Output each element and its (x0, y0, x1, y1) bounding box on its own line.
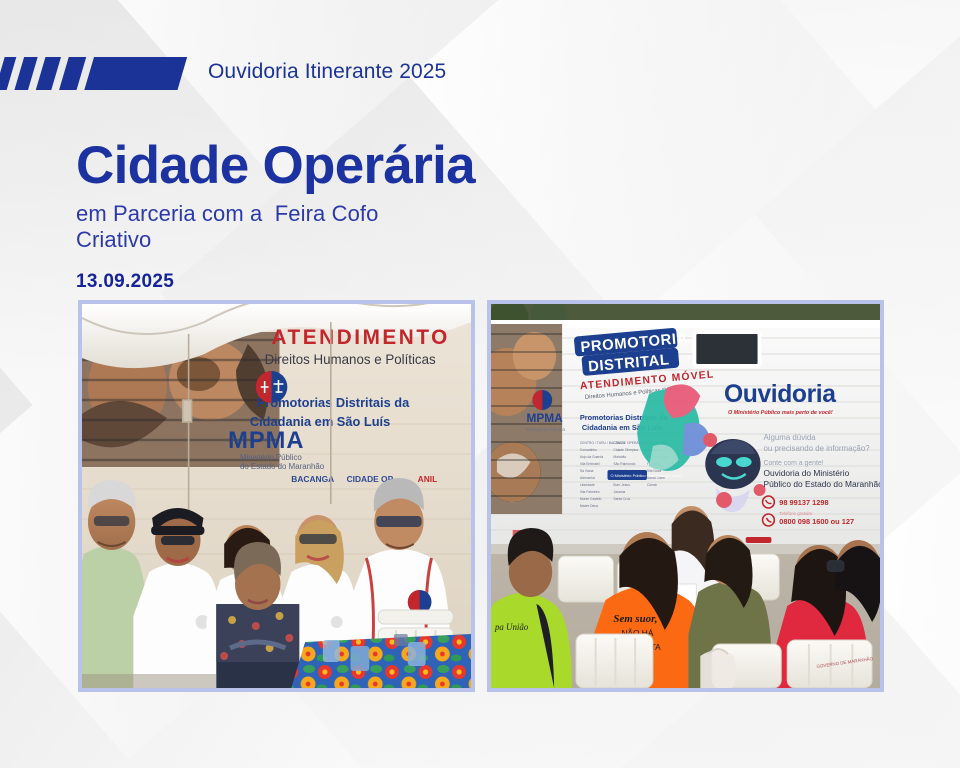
svg-text:Santa Cruz: Santa Cruz (613, 497, 630, 501)
svg-text:Vila Embratel: Vila Embratel (580, 462, 600, 466)
photo-left-frame[interactable]: ATENDIMENTO Direitos Humanos e Políticas… (78, 300, 475, 692)
svg-text:Vila Palmeira: Vila Palmeira (580, 490, 600, 494)
svg-text:ANIL: ANIL (418, 474, 438, 484)
photo-left-image: ATENDIMENTO Direitos Humanos e Políticas… (82, 304, 471, 688)
svg-text:0800 098 1600 ou 127: 0800 098 1600 ou 127 (779, 517, 854, 526)
svg-text:98 99137 1298: 98 99137 1298 (779, 498, 828, 507)
svg-text:Liberdade: Liberdade (580, 483, 595, 487)
plastic-bag (700, 649, 736, 688)
svg-text:São Raimundo: São Raimundo (613, 462, 635, 466)
svg-text:Alemanha: Alemanha (580, 476, 595, 480)
svg-text:Sem suor,: Sem suor, (613, 613, 657, 625)
svg-text:Ministério Público: Ministério Público (240, 453, 302, 462)
svg-text:Telefone gratuito: Telefone gratuito (779, 511, 812, 516)
table-floral (291, 634, 471, 688)
svg-text:Madre Deus: Madre Deus (580, 504, 598, 508)
photo-right-image: MPMA Ministério Público PROMOTORIA DISTR… (491, 304, 880, 688)
svg-text:Ouvidoria: Ouvidoria (724, 381, 836, 408)
svg-text:ou precisando de informação?: ou precisando de informação? (763, 444, 870, 453)
page-subtitle: em Parceria com a Feira Cofo Criativo (76, 201, 446, 253)
svg-text:Anjo da Guarda: Anjo da Guarda (580, 455, 604, 459)
header-accent-bar (0, 57, 202, 90)
slide-root: Ouvidoria Itinerante 2025 Cidade Operári… (0, 0, 960, 768)
kicker-text: Ouvidoria Itinerante 2025 (208, 60, 446, 84)
svg-text:Cidade Olímpica: Cidade Olímpica (613, 448, 638, 452)
svg-text:Janaína: Janaína (613, 490, 625, 494)
svg-text:Ministério Público: Ministério Público (527, 427, 566, 433)
svg-text:MPMA: MPMA (228, 427, 304, 454)
svg-text:Bom Jesus: Bom Jesus (613, 483, 630, 487)
svg-text:Ouvidoria do Ministério: Ouvidoria do Ministério (763, 468, 849, 478)
svg-text:MPMA: MPMA (527, 411, 564, 425)
svg-text:Alguma dúvida: Alguma dúvida (763, 433, 816, 442)
svg-text:ATENDIMENTO: ATENDIMENTO (272, 326, 450, 349)
photo-right-frame[interactable]: MPMA Ministério Público PROMOTORIA DISTR… (487, 300, 884, 692)
svg-text:Público do Estado do Maranhão: Público do Estado do Maranhão (763, 479, 880, 489)
svg-text:Coroadinho: Coroadinho (580, 448, 597, 452)
svg-text:Maiobão: Maiobão (613, 455, 626, 459)
svg-text:Cohab: Cohab (647, 483, 657, 487)
svg-text:pa União: pa União (494, 622, 529, 632)
svg-text:O Ministério Público mais pert: O Ministério Público mais perto de você! (728, 410, 833, 416)
event-date: 13.09.2025 (76, 271, 596, 293)
svg-text:BACANGA: BACANGA (291, 474, 334, 484)
svg-text:Sá Viana: Sá Viana (580, 469, 594, 473)
svg-text:Conte com a gente!: Conte com a gente! (763, 460, 823, 467)
svg-text:O Ministério Público mais pert: O Ministério Público mais perto de você! (610, 473, 681, 478)
svg-text:Direitos Humanos e Políticas: Direitos Humanos e Políticas (265, 352, 436, 367)
page-title: Cidade Operária (76, 138, 596, 194)
title-block: Cidade Operária em Parceria com a Feira … (76, 138, 596, 293)
svg-text:do Estado do Maranhão: do Estado do Maranhão (240, 462, 325, 471)
svg-text:Monte Castelo: Monte Castelo (580, 497, 602, 501)
photo-gallery: ATENDIMENTO Direitos Humanos e Políticas… (78, 300, 884, 692)
